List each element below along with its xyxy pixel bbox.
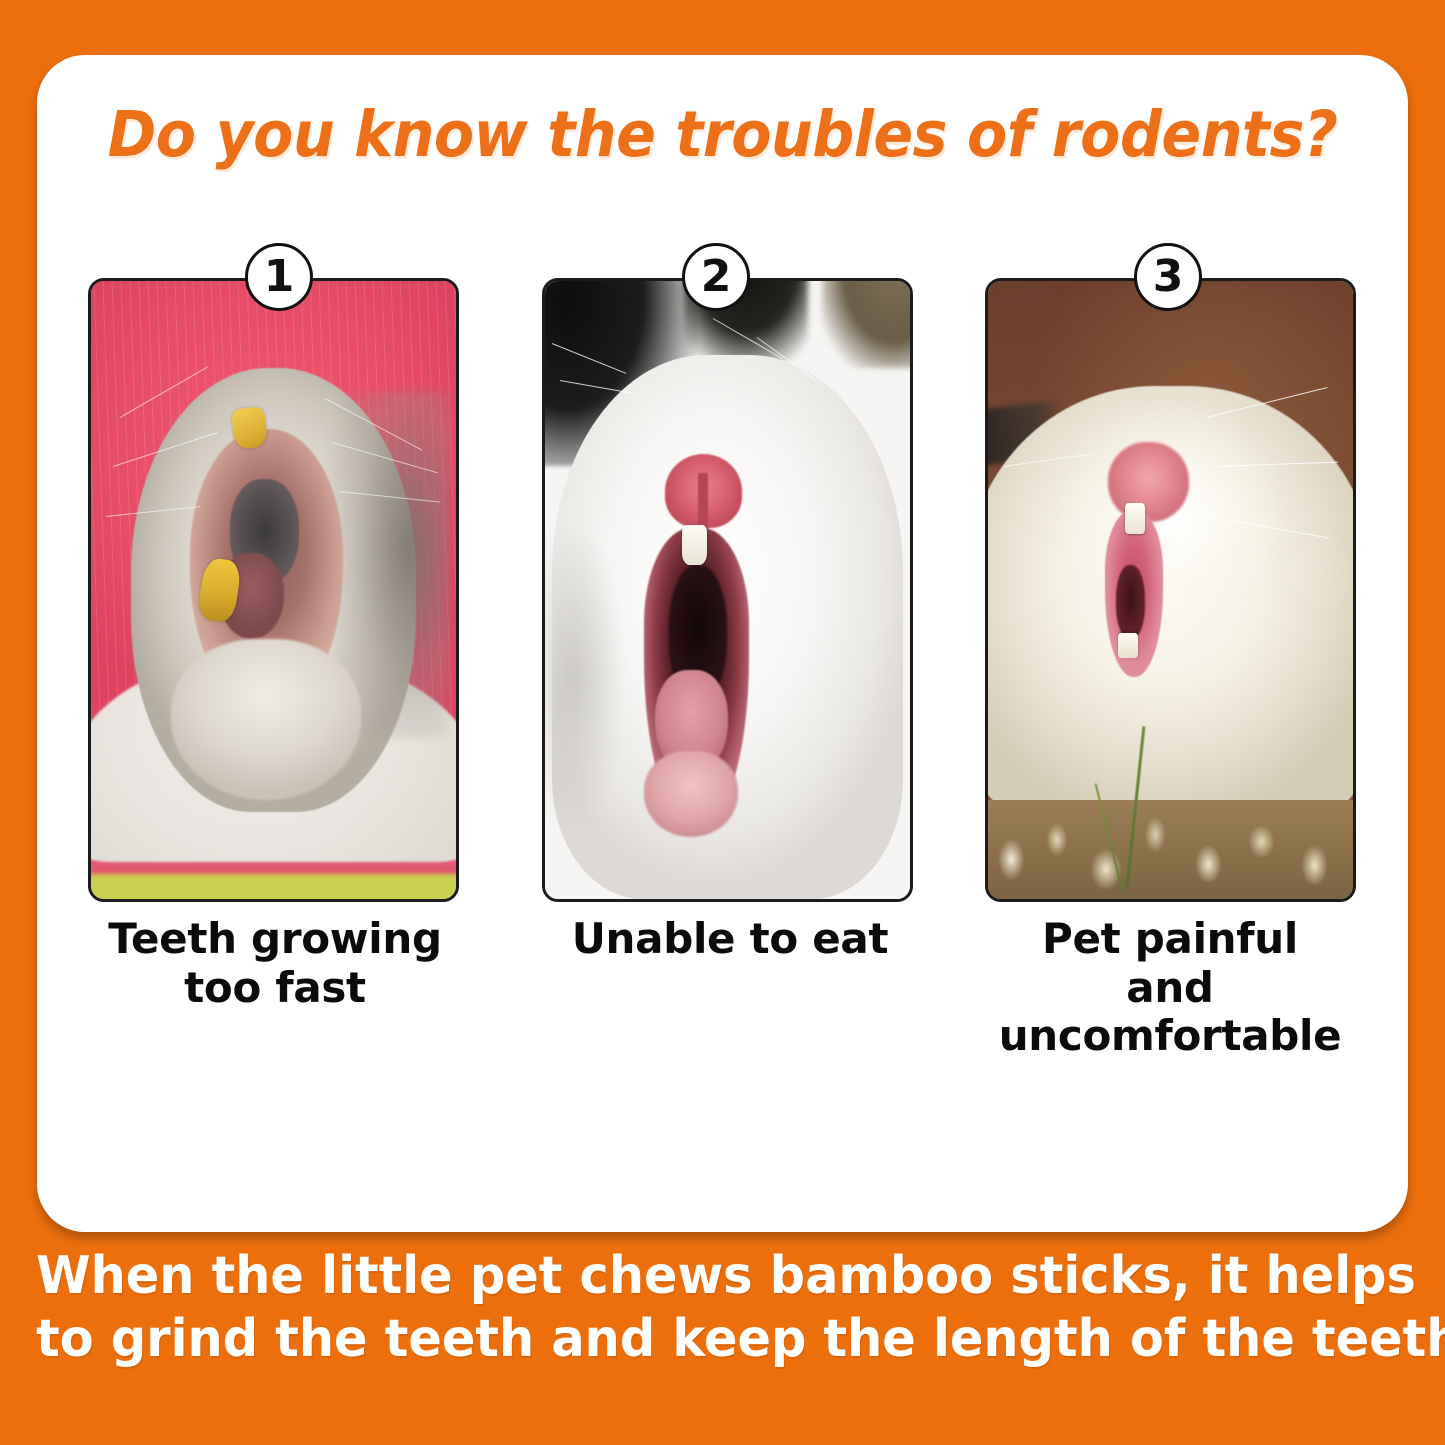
photo1-whiskers: [91, 281, 456, 899]
badge-number-2: 2: [701, 255, 732, 299]
banner-line-2: to grind the teeth and keep the length o…: [36, 1308, 1409, 1371]
photo3-whiskers: [988, 281, 1353, 899]
caption-line: uncomfortable: [965, 1012, 1375, 1061]
card-number-badge-3: 3: [1134, 243, 1202, 311]
banner-line-1: When the little pet chews bamboo sticks,…: [36, 1245, 1409, 1308]
bottom-banner: When the little pet chews bamboo sticks,…: [36, 1245, 1409, 1372]
problem-card-2: [542, 278, 913, 902]
badge-number-3: 3: [1153, 255, 1184, 299]
caption-line: Pet painful: [965, 915, 1375, 964]
caption-card-2: Unable to eat: [525, 915, 935, 964]
caption-line: Unable to eat: [525, 915, 935, 964]
caption-card-1: Teeth growing too fast: [70, 915, 480, 1012]
photo-teeth-growing-too-fast: [91, 281, 456, 899]
photo-pet-painful-and-uncomfortable: [988, 281, 1353, 899]
card-number-badge-1: 1: [245, 243, 313, 311]
photo2-whiskers: [545, 281, 910, 899]
photo-unable-to-eat: [545, 281, 910, 899]
caption-card-3: Pet painful and uncomfortable: [965, 915, 1375, 1061]
problem-card-1: [88, 278, 459, 902]
poster-stage: Do you know the troubles of rodents?: [0, 0, 1445, 1445]
problem-card-row: [88, 278, 1350, 902]
caption-line: and: [965, 964, 1375, 1013]
badge-number-1: 1: [264, 255, 295, 299]
card-number-badge-2: 2: [682, 243, 750, 311]
problem-card-3: [985, 278, 1356, 902]
caption-line: Teeth growing: [70, 915, 480, 964]
page-title: Do you know the troubles of rodents?: [85, 98, 1360, 171]
caption-line: too fast: [70, 964, 480, 1013]
